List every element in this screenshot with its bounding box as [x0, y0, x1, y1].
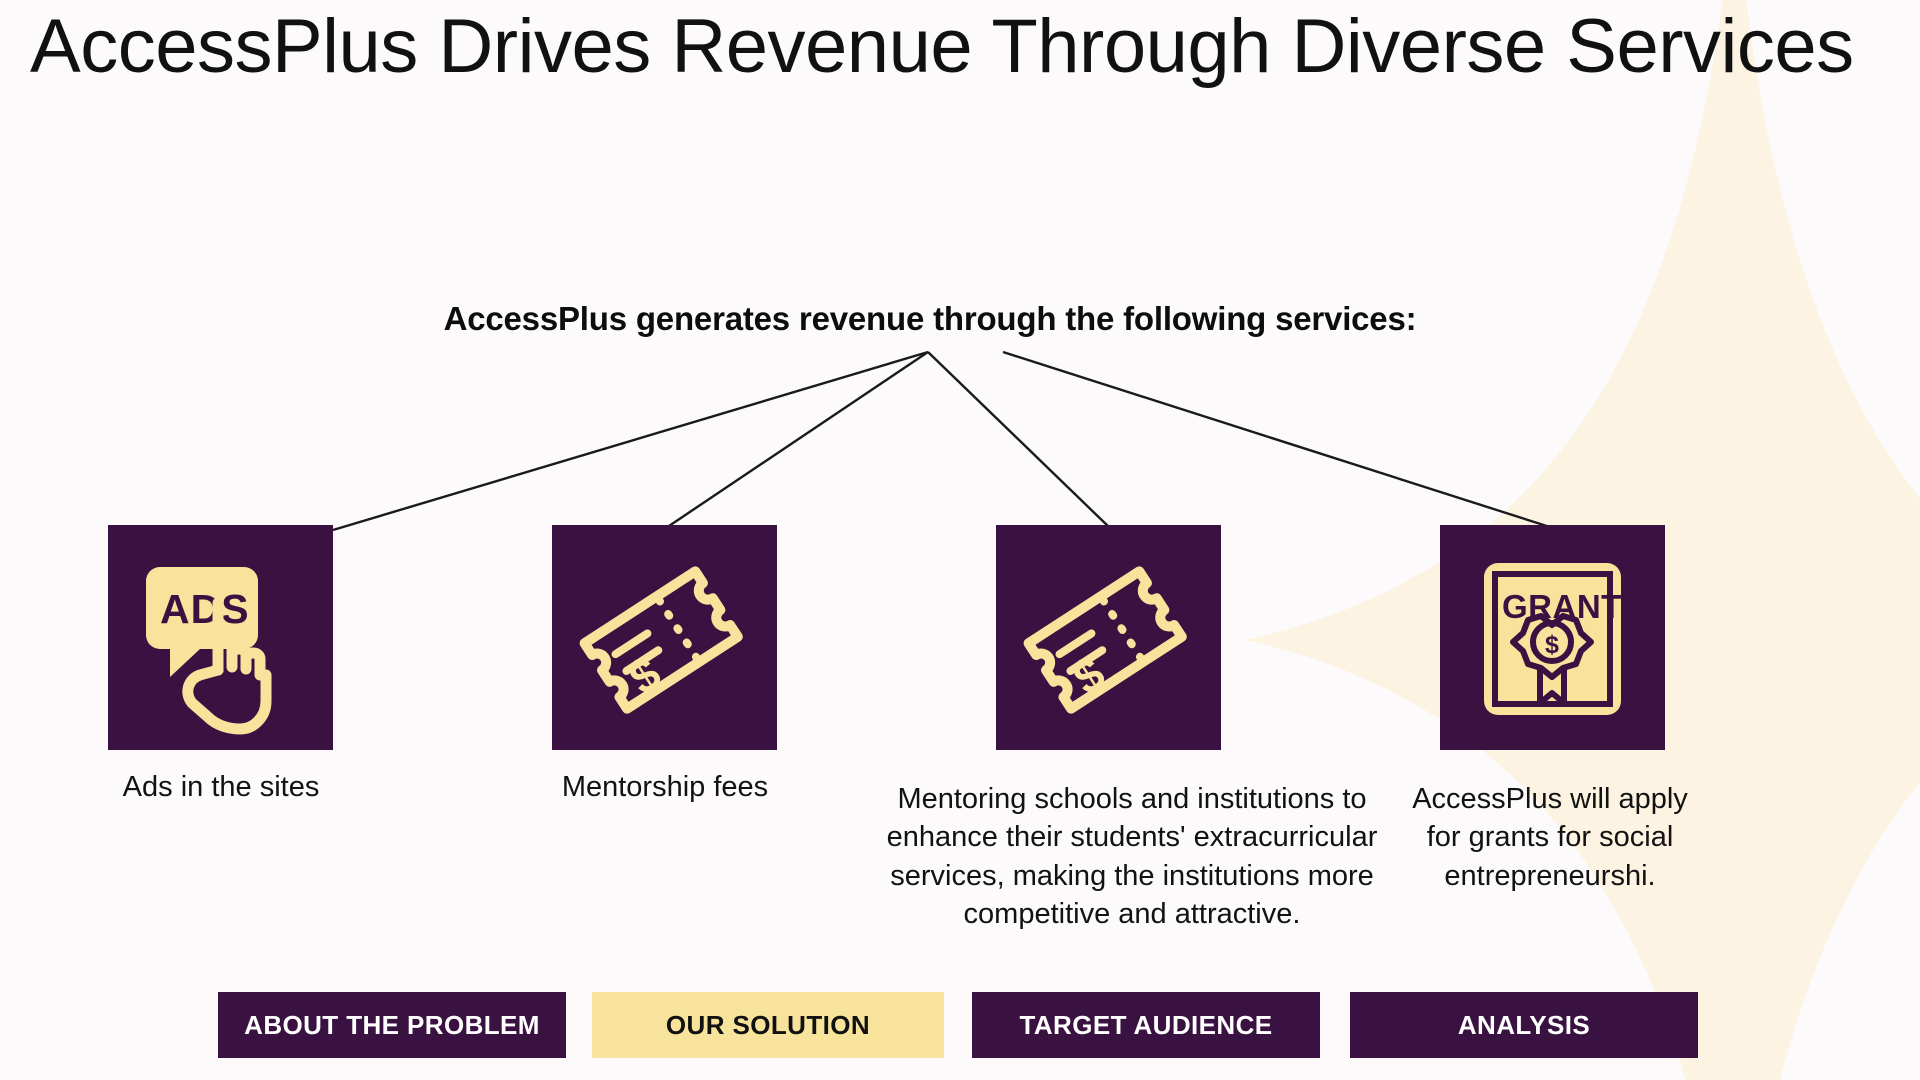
- nav-button-analysis[interactable]: ANALYSIS: [1350, 992, 1698, 1058]
- service-caption-1: Ads in the sites: [36, 768, 406, 806]
- connector-line-2: [666, 352, 928, 528]
- service-caption-2: Mentorship fees: [480, 768, 850, 806]
- connector-line-1: [333, 352, 928, 530]
- service-card-1[interactable]: ADS: [108, 525, 333, 750]
- ticket-dollar-icon: $: [996, 525, 1221, 750]
- nav-button-label: TARGET AUDIENCE: [1020, 1010, 1273, 1041]
- subtitle-heading: AccessPlus generates revenue through the…: [0, 300, 1860, 338]
- svg-text:ADS: ADS: [160, 586, 250, 632]
- nav-button-label: ANALYSIS: [1458, 1010, 1590, 1041]
- connector-line-3: [928, 352, 1110, 528]
- service-card-2[interactable]: $: [552, 525, 777, 750]
- nav-button-about-the-problem[interactable]: ABOUT THE PROBLEM: [218, 992, 566, 1058]
- nav-button-target-audience[interactable]: TARGET AUDIENCE: [972, 992, 1320, 1058]
- ticket-dollar-icon: $: [552, 525, 777, 750]
- nav-button-label: ABOUT THE PROBLEM: [244, 1010, 540, 1041]
- connector-line-4: [1003, 352, 1553, 528]
- svg-text:$: $: [620, 647, 670, 705]
- ads-click-icon: ADS: [108, 525, 333, 750]
- slide-canvas: AccessPlus Drives Revenue Through Divers…: [0, 0, 1920, 1080]
- nav-button-our-solution[interactable]: OUR SOLUTION: [592, 992, 944, 1058]
- page-title: AccessPlus Drives Revenue Through Divers…: [30, 8, 1860, 86]
- service-caption-4: AccessPlus will apply for grants for soc…: [1405, 780, 1695, 895]
- svg-text:$: $: [1064, 647, 1114, 705]
- grant-certificate-icon: GRANT $: [1440, 525, 1665, 750]
- nav-button-label: OUR SOLUTION: [666, 1010, 870, 1041]
- svg-text:$: $: [1545, 631, 1559, 659]
- service-caption-3: Mentoring schools and institutions to en…: [862, 780, 1402, 933]
- service-card-4[interactable]: GRANT $: [1440, 525, 1665, 750]
- service-card-3[interactable]: $: [996, 525, 1221, 750]
